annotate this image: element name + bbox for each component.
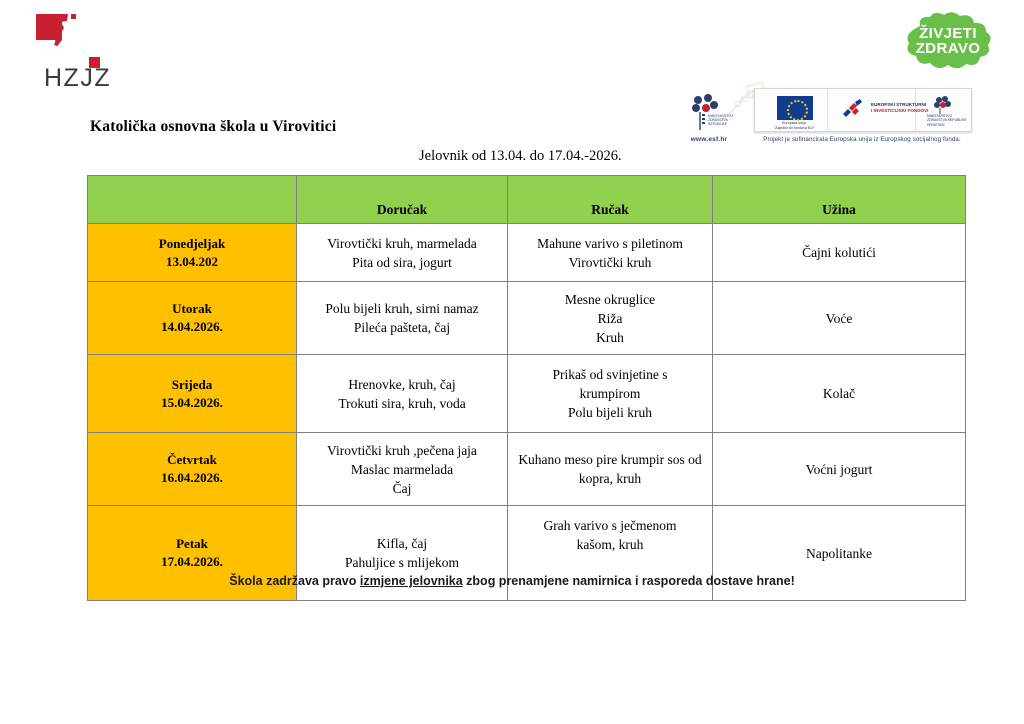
hzjz-croatia-mark-icon bbox=[34, 12, 82, 56]
lunch-cell: Mesne okrugliceRižaKruh bbox=[508, 282, 713, 355]
day-date: 17.04.2026. bbox=[88, 553, 296, 571]
disclaimer-underlined: izmjene jelovnika bbox=[360, 574, 463, 588]
column-header-day bbox=[88, 176, 297, 224]
ministry-flower-icon bbox=[931, 95, 955, 114]
day-name: Četvrtak bbox=[88, 451, 296, 469]
day-cell: Utorak 14.04.2026. bbox=[88, 282, 297, 355]
day-date: 16.04.2026. bbox=[88, 469, 296, 487]
structural-funds-wordmark: EUROPSKI STRUKTURNI I INVESTICIJSKI FOND… bbox=[871, 102, 928, 114]
green-cloud-shape-icon bbox=[900, 12, 996, 74]
esf-website-url: www.esf.hr bbox=[672, 136, 746, 143]
eu-cofinancing-note: Projekt je sufinancirala Europska unija … bbox=[754, 136, 970, 143]
eu-funding-banner: MINISTARSTVO ZDRAVSTVA REPUBLIKE www.esf… bbox=[672, 86, 972, 160]
table-body: Ponedjeljak 13.04.202 Virovtički kruh, m… bbox=[88, 224, 966, 601]
day-date: 13.04.202 bbox=[88, 253, 296, 271]
eu-flag-icon bbox=[777, 96, 813, 120]
structural-funds-icon bbox=[839, 98, 869, 120]
day-date: 15.04.2026. bbox=[88, 394, 296, 412]
table-header-row: Doručak Ručak Užina bbox=[88, 176, 966, 224]
column-header-snack: Užina bbox=[713, 176, 966, 224]
breakfast-cell: Hrenovke, kruh, čajTrokuti sira, kruh, v… bbox=[297, 355, 508, 433]
day-cell: Ponedjeljak 13.04.202 bbox=[88, 224, 297, 282]
zivjeti-zdravo-logo: ŽIVJETI ZDRAVO bbox=[900, 12, 996, 74]
lunch-cell: Mahune varivo s piletinomVirovtički kruh bbox=[508, 224, 713, 282]
snack-cell: Voće bbox=[713, 282, 966, 355]
table-row: Utorak 14.04.2026. Polu bijeli kruh, sir… bbox=[88, 282, 966, 355]
table-row: Ponedjeljak 13.04.202 Virovtički kruh, m… bbox=[88, 224, 966, 282]
lunch-cell: Prikaš od svinjetine skrumpiromPolu bije… bbox=[508, 355, 713, 433]
breakfast-cell: Virovtički kruh, marmeladaPita od sira, … bbox=[297, 224, 508, 282]
table-row: Četvrtak 16.04.2026. Virovtički kruh ,pe… bbox=[88, 433, 966, 506]
column-header-breakfast: Doručak bbox=[297, 176, 508, 224]
disclaimer-note: Škola zadržava pravo izmjene jelovnika z… bbox=[0, 574, 1024, 588]
table-row: Srijeda 15.04.2026. Hrenovke, kruh, čajT… bbox=[88, 355, 966, 433]
hzjz-wordmark: HZJZ bbox=[44, 64, 111, 93]
menu-date-range: Jelovnik od 13.04. do 17.04.-2026. bbox=[419, 148, 622, 165]
esf-flower-icon: MINISTARSTVO ZDRAVSTVA REPUBLIKE bbox=[678, 92, 734, 134]
snack-cell: Kolač bbox=[713, 355, 966, 433]
lunch-cell: Kuhano meso pire krumpir sos odkopra, kr… bbox=[508, 433, 713, 506]
weekly-menu-table: Doručak Ručak Užina Ponedjeljak 13.04.20… bbox=[87, 175, 966, 601]
svg-text:REPUBLIKE: REPUBLIKE bbox=[708, 122, 728, 126]
eu-stars-icon bbox=[787, 100, 808, 121]
strip-divider-1 bbox=[827, 89, 828, 131]
day-name: Ponedjeljak bbox=[88, 235, 296, 253]
page-title: Katolička osnovna škola u Virovitici bbox=[90, 118, 336, 136]
breakfast-cell: Virovtički kruh ,pečena jajaMaslac marme… bbox=[297, 433, 508, 506]
day-date: 14.04.2026. bbox=[88, 318, 296, 336]
day-name: Petak bbox=[88, 535, 296, 553]
ministry-caption: MINISTARSTVO ZDRAVSTVA REPUBLIKE HRVATSK… bbox=[927, 114, 969, 127]
eu-logos-strip: Europska unija "Zajedno do fondova EU" E… bbox=[754, 88, 972, 132]
breakfast-cell: Polu bijeli kruh, sirni namazPileća pašt… bbox=[297, 282, 508, 355]
disclaimer-part2: zbog prenamjene namirnica i rasporeda do… bbox=[463, 574, 795, 588]
day-cell: Srijeda 15.04.2026. bbox=[88, 355, 297, 433]
snack-cell: Voćni jogurt bbox=[713, 433, 966, 506]
hzjz-logo: HZJZ bbox=[26, 10, 156, 90]
day-name: Utorak bbox=[88, 300, 296, 318]
day-name: Srijeda bbox=[88, 376, 296, 394]
column-header-lunch: Ručak bbox=[508, 176, 713, 224]
eu-flag-caption: Europska unija "Zajedno do fondova EU" bbox=[761, 121, 827, 131]
snack-cell: Čajni kolutići bbox=[713, 224, 966, 282]
disclaimer-part1: Škola zadržava pravo bbox=[229, 574, 360, 588]
day-cell: Četvrtak 16.04.2026. bbox=[88, 433, 297, 506]
